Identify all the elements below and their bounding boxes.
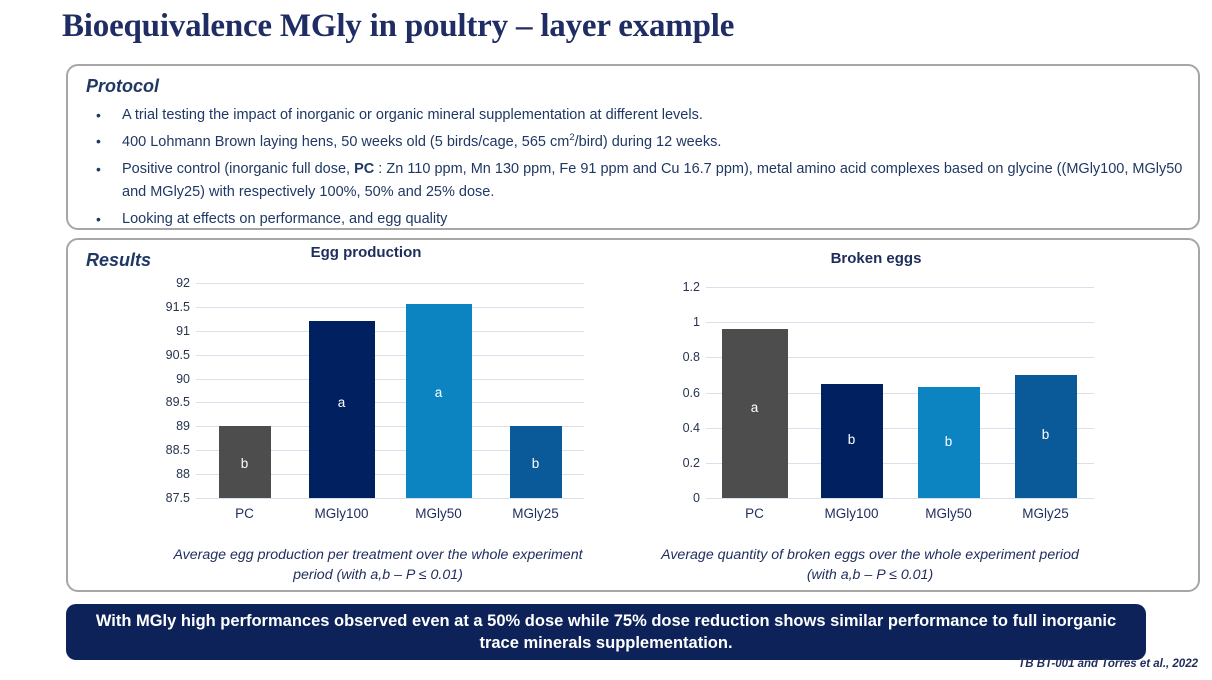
y-axis-tick-label: 87.5 [166,491,190,505]
slide: Bioequivalence MGly in poultry – layer e… [0,0,1212,680]
bullet-dot-icon: • [90,158,122,181]
x-axis-tick-label: MGly25 [1022,506,1069,521]
protocol-bullet-text: 400 Lohmann Brown laying hens, 50 weeks … [122,130,1185,154]
protocol-bullet: •A trial testing the impact of inorganic… [90,104,1185,127]
protocol-bullet-list: •A trial testing the impact of inorganic… [90,104,1185,234]
bar-significance-label: a [722,400,788,415]
chart-gridline [196,379,584,380]
y-axis-tick-label: 0 [693,491,700,505]
protocol-bullet: •Looking at effects on performance, and … [90,208,1185,231]
chart-gridline [196,402,584,403]
y-axis-tick-label: 88.5 [166,443,190,457]
chart-bar[interactable]: b [510,426,562,498]
bullet-dot-icon: • [90,130,122,153]
footnote: TB BT-001 and Torres et al., 2022 [1018,658,1198,670]
bar-significance-label: b [1015,427,1077,442]
x-axis-tick-label: MGly100 [314,506,368,521]
chart-title-broken-eggs: Broken eggs [690,250,1062,267]
y-axis-tick-label: 0.8 [683,350,700,364]
y-axis-tick-label: 90 [176,372,190,386]
bar-significance-label: b [510,456,562,471]
chart-bar[interactable]: b [1015,375,1077,498]
results-heading: Results [86,250,151,271]
y-axis-tick-label: 90.5 [166,348,190,362]
caption-broken-eggs: Average quantity of broken eggs over the… [660,546,1080,586]
protocol-bullet: •400 Lohmann Brown laying hens, 50 weeks… [90,130,1185,154]
chart-gridline [706,498,1094,499]
protocol-bullet-text: Looking at effects on performance, and e… [122,208,1185,231]
chart-egg-production: 9291.59190.59089.58988.58887.5bPCaMGly10… [196,283,584,498]
x-axis-tick-label: MGly50 [925,506,972,521]
chart-gridline [196,498,584,499]
chart-gridline [196,307,584,308]
chart-gridline [196,331,584,332]
bullet-dot-icon: • [90,208,122,231]
bar-significance-label: a [309,395,375,410]
chart-bar[interactable]: a [309,321,375,498]
x-axis-tick-label: MGly50 [415,506,462,521]
x-axis-tick-label: MGly25 [512,506,559,521]
y-axis-tick-label: 88 [176,467,190,481]
chart-bar[interactable]: b [821,384,883,498]
bar-significance-label: b [918,434,980,449]
chart-gridline [706,322,1094,323]
conclusion-text: With MGly high performances observed eve… [92,610,1120,655]
chart-broken-eggs: 1.210.80.60.40.20aPCbMGly100bMGly50bMGly… [706,287,1094,498]
y-axis-tick-label: 89.5 [166,395,190,409]
x-axis-tick-label: PC [745,506,764,521]
chart-bar[interactable]: b [219,426,271,498]
protocol-heading: Protocol [86,76,159,97]
y-axis-tick-label: 0.4 [683,421,700,435]
chart-title-egg-production: Egg production [180,244,552,261]
bar-significance-label: b [219,456,271,471]
conclusion-banner: With MGly high performances observed eve… [66,604,1146,660]
x-axis-tick-label: PC [235,506,254,521]
y-axis-tick-label: 92 [176,276,190,290]
bullet-dot-icon: • [90,104,122,127]
bar-significance-label: a [406,385,472,400]
y-axis-tick-label: 0.2 [683,456,700,470]
y-axis-tick-label: 0.6 [683,386,700,400]
protocol-bullet: •Positive control (inorganic full dose, … [90,158,1185,205]
x-axis-tick-label: MGly100 [824,506,878,521]
page-title: Bioequivalence MGly in poultry – layer e… [62,8,1162,45]
protocol-bullet-text: Positive control (inorganic full dose, P… [122,158,1185,205]
y-axis-tick-label: 1 [693,315,700,329]
protocol-card: Protocol •A trial testing the impact of … [66,64,1200,230]
y-axis-tick-label: 91 [176,324,190,338]
chart-bar[interactable]: a [722,329,788,498]
chart-gridline [196,283,584,284]
y-axis-tick-label: 1.2 [683,280,700,294]
caption-egg-production: Average egg production per treatment ove… [168,546,588,586]
chart-gridline [706,287,1094,288]
chart-bar[interactable]: a [406,304,472,498]
chart-bar[interactable]: b [918,387,980,498]
y-axis-tick-label: 89 [176,419,190,433]
chart-gridline [196,355,584,356]
y-axis-tick-label: 91.5 [166,300,190,314]
bar-significance-label: b [821,432,883,447]
protocol-bullet-text: A trial testing the impact of inorganic … [122,104,1185,127]
